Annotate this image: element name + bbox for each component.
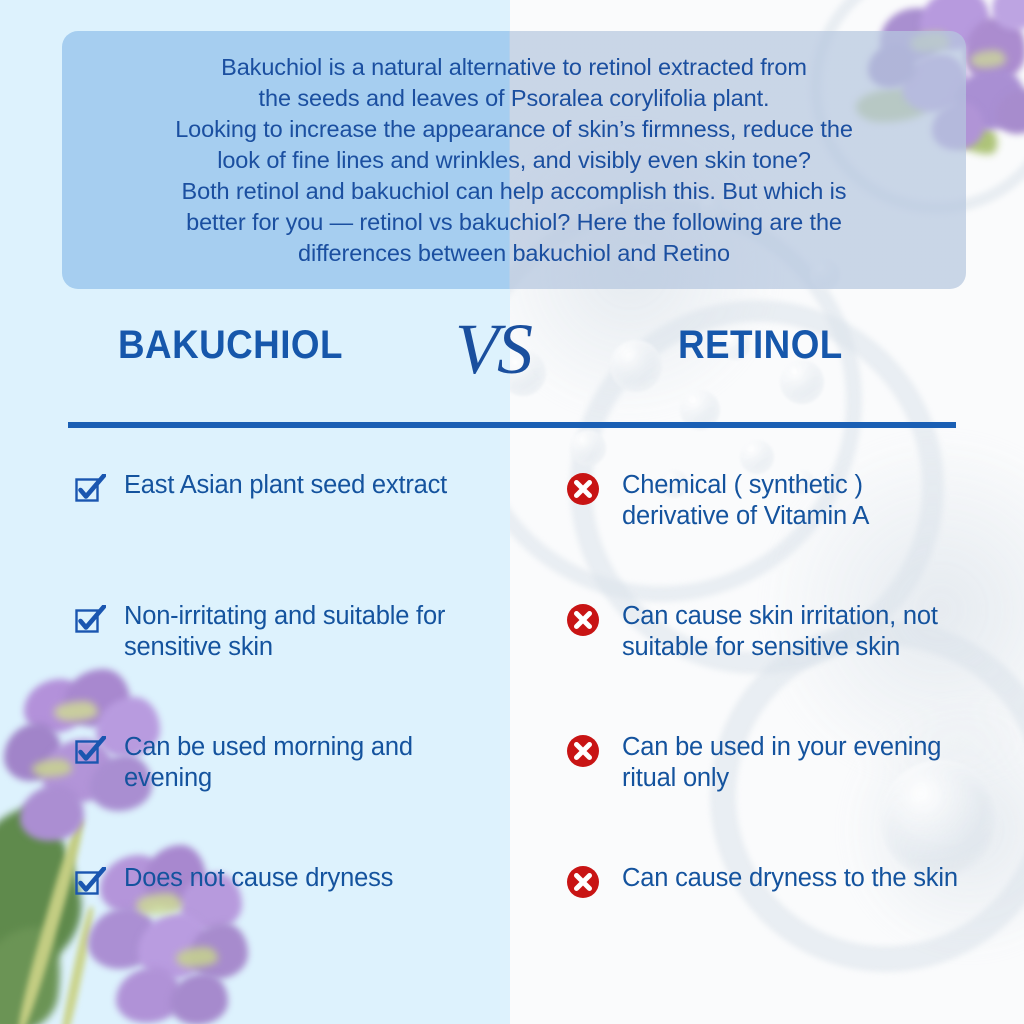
retinol-column: Chemical ( synthetic ) derivative of Vit… [510, 470, 1024, 994]
header-divider [68, 422, 956, 428]
list-item: Non-irritating and suitable for sensitiv… [74, 601, 510, 696]
intro-line: the seeds and leaves of Psoralea corylif… [92, 83, 936, 114]
comparison-infographic: Bakuchiol is a natural alternative to re… [0, 0, 1024, 1024]
x-circle-icon [566, 603, 600, 637]
list-item: Can cause skin irritation, not suitable … [566, 601, 1024, 696]
x-circle-icon [566, 734, 600, 768]
check-icon [74, 474, 106, 504]
comparison-columns: East Asian plant seed extract Non-irrita… [0, 470, 1024, 994]
list-item: Chemical ( synthetic ) derivative of Vit… [566, 470, 1024, 565]
list-item: Can be used in your evening ritual only [566, 732, 1024, 827]
check-icon [74, 736, 106, 766]
list-item-label: Chemical ( synthetic ) derivative of Vit… [600, 470, 972, 532]
list-item: East Asian plant seed extract [74, 470, 510, 565]
intro-line: differences between bakuchiol and Retino [92, 238, 936, 269]
heading-vs: VS [455, 308, 531, 391]
list-item-label: Can be used in your evening ritual only [600, 732, 972, 794]
check-icon [74, 605, 106, 635]
heading-bakuchiol: BAKUCHIOL [118, 323, 343, 368]
intro-text: Bakuchiol is a natural alternative to re… [62, 52, 966, 269]
list-item-label: Non-irritating and suitable for sensitiv… [106, 601, 504, 663]
list-item: Can cause dryness to the skin [566, 863, 1024, 958]
list-item-label: Can be used morning and evening [106, 732, 504, 794]
list-item-label: Can cause dryness to the skin [600, 863, 972, 894]
comparison-headers: BAKUCHIOL VS RETINOL [0, 318, 1024, 398]
heading-retinol: RETINOL [678, 323, 843, 368]
intro-line: look of fine lines and wrinkles, and vis… [92, 145, 936, 176]
intro-line: Bakuchiol is a natural alternative to re… [92, 52, 936, 83]
intro-line: Both retinol and bakuchiol can help acco… [92, 176, 936, 207]
list-item: Can be used morning and evening [74, 732, 510, 827]
list-item-label: Does not cause dryness [106, 863, 504, 894]
check-icon [74, 867, 106, 897]
list-item: Does not cause dryness [74, 863, 510, 958]
list-item-label: East Asian plant seed extract [106, 470, 504, 501]
x-circle-icon [566, 865, 600, 899]
x-circle-icon [566, 472, 600, 506]
list-item-label: Can cause skin irritation, not suitable … [600, 601, 972, 663]
intro-line: Looking to increase the appearance of sk… [92, 114, 936, 145]
intro-line: better for you — retinol vs bakuchiol? H… [92, 207, 936, 238]
intro-card: Bakuchiol is a natural alternative to re… [62, 31, 966, 289]
bakuchiol-column: East Asian plant seed extract Non-irrita… [0, 470, 510, 994]
